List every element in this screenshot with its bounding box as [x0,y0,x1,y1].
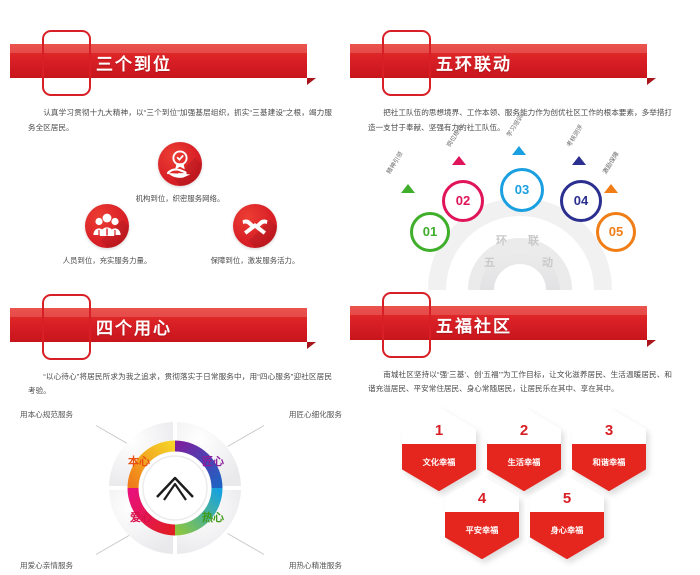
banner-five-fortune: 五福社区 [350,292,690,358]
hex-item-4-label: 平安幸福 [445,524,519,536]
three-item-1-caption: 机构到位，织密服务网络。 [105,193,255,204]
hex-item-5-number: 5 [530,490,604,507]
paragraph-three: 认真学习贯彻十九大精神，以“三个到位”加强基层组织，抓实“三基建设”之根，竭力服… [28,106,332,136]
hex-item-1-number: 1 [402,422,476,439]
banner-outline-box [382,30,431,96]
left-column: 三个到位 认真学习贯彻十九大精神，以“三个到位”加强基层组织，抓实“三基建设”之… [10,0,350,571]
heart-word-rexin: 热心 [202,509,224,525]
paragraph-four: “以心待心”将居民所求为我之追求，贯彻落实于日常服务中，用“四心服务”迎社区居民… [28,370,332,400]
three-item-3-caption: 保障到位，激发服务活力。 [180,255,330,266]
corner-label-benxin: 用本心规范服务 [20,409,73,420]
ring-node-05-number: 05 [609,224,623,239]
heart-word-benxin: 本心 [128,453,150,469]
four-hearts-donut [106,419,244,557]
banner-outline-box [42,30,91,96]
ring-marker-02 [452,156,466,165]
ring-marker-05 [604,184,618,193]
banner-outline-box [382,292,431,358]
right-column: 五环联动 把社工队伍的思想境界、工作本领、服务能力作为创优社区工作的根本要素，多… [350,0,690,571]
section-title-five-fortune: 五福社区 [436,312,512,337]
corner-label-jiangxin: 用匠心细化服务 [289,409,342,420]
five-ring-diagram: 五 环 联 动 01 精神引领 02 岗位练兵 03 学习培训 [350,140,690,290]
banner-outline-box [42,294,91,360]
ring-node-01[interactable]: 01 [410,212,450,252]
hex-shape [530,475,604,559]
corner-label-rexin: 用热心精准服务 [289,560,342,571]
ring-node-02[interactable]: 02 [442,180,484,222]
ring-node-02-number: 02 [456,193,470,208]
hex-item-1-label: 文化幸福 [402,456,476,468]
section-title-three: 三个到位 [96,50,172,75]
ring-node-04[interactable]: 04 [560,180,602,222]
three-item-3: 保障到位，激发服务活力。 [180,204,330,266]
arch-graphic [350,140,690,290]
ring-marker-03 [512,146,526,155]
hex-item-5[interactable]: 5 身心幸福 [530,475,604,559]
paragraph-five-fortune: 南城社区坚持以“强‘三基’、创‘五福’”为工作目标，让文化滋养居民、生活温暖居民… [368,368,672,398]
ring-node-04-number: 04 [574,193,588,208]
heart-word-jiangxin: 匠心 [202,453,224,469]
hex-item-4[interactable]: 4 平安幸福 [445,475,519,559]
infographic-page: 三个到位 认真学习贯彻十九大精神，以“三个到位”加强基层组织，抓实“三基建设”之… [0,0,700,571]
hex-item-3-number: 3 [572,422,646,439]
handshake-house-icon [233,204,277,248]
three-icons-group: 机构到位，织密服务网络。 人员到位，充实 [10,142,350,292]
donut-stage: 本心 匠心 爱心 热心 [106,419,244,557]
heart-word-aixin: 爱心 [130,509,152,525]
ring-marker-01 [401,184,415,193]
section-title-five-ring: 五环联动 [436,50,512,75]
banner-four: 四个用心 [10,294,350,360]
five-fortune-hexagons: 1 文化幸福 2 生活幸福 3 和谐幸福 4 平安幸福 5 身心 [350,403,690,553]
section-title-four: 四个用心 [96,314,172,339]
hex-shape [445,475,519,559]
four-hearts-diagram: 用本心规范服务 用匠心细化服务 用爱心亲情服务 用热心精准服务 [10,405,350,575]
three-item-2-caption: 人员到位，充实服务力量。 [32,255,182,266]
ring-node-05[interactable]: 05 [596,212,636,252]
ring-node-01-number: 01 [423,224,437,239]
corner-label-aixin: 用爱心亲情服务 [20,560,73,571]
hex-item-2-number: 2 [487,422,561,439]
hex-item-4-number: 4 [445,490,519,507]
banner-three: 三个到位 [10,30,350,96]
hex-item-2-label: 生活幸福 [487,456,561,468]
arch-text-huan: 环 [496,232,507,248]
arch-text-wu: 五 [484,254,495,270]
arch-text-dong: 动 [542,254,553,270]
hex-item-5-label: 身心幸福 [530,524,604,536]
three-item-2: 人员到位，充实服务力量。 [32,204,182,266]
ring-node-03-number: 03 [515,182,529,197]
three-item-1: 机构到位，织密服务网络。 [105,142,255,204]
people-group-icon [85,204,129,248]
hex-item-3-label: 和谐幸福 [572,456,646,468]
banner-five-ring: 五环联动 [350,30,690,96]
award-hand-icon [158,142,202,186]
ring-marker-04 [572,156,586,165]
ring-node-03[interactable]: 03 [500,168,544,212]
arch-text-lian: 联 [528,232,539,248]
